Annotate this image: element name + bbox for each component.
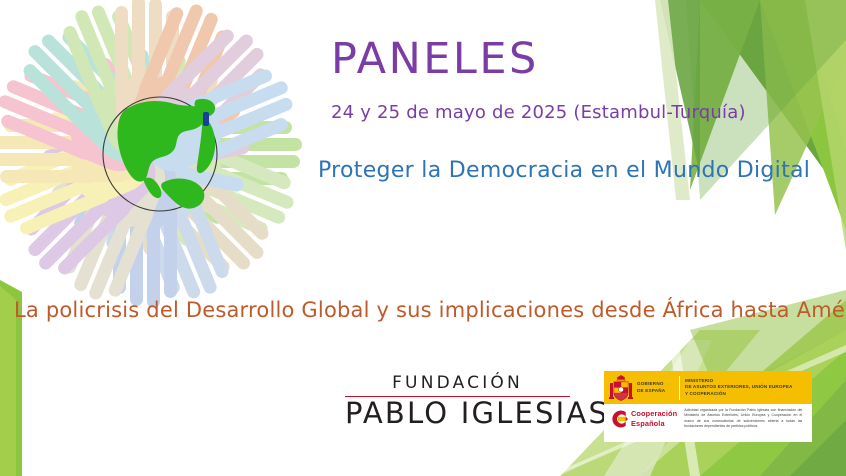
ministry-line-3: Y COOPERACIÓN: [685, 391, 793, 398]
event-date-location: 24 y 25 de mayo de 2025 (Estambul-Turquí…: [331, 104, 746, 122]
fundacion-pablo-iglesias-logo: FUNDACIÓN PABLO IGLESIAS: [345, 374, 570, 430]
page-title: PANELES: [331, 38, 539, 81]
government-logo-block: GOBIERNO DE ESPAÑA MINISTERIO DE ASUNTOS…: [604, 371, 812, 442]
cooperacion-espanola-band: Cooperación Española Actividad organizad…: [604, 404, 812, 442]
ministry-label: MINISTERIO DE ASUNTOS EXTERIORES, UNIÓN …: [685, 378, 793, 398]
gobierno-de-espana-label: GOBIERNO DE ESPAÑA: [637, 381, 677, 393]
ministry-line-2: DE ASUNTOS EXTERIORES, UNIÓN EUROPEA: [685, 384, 793, 391]
spain-coat-of-arms-icon: [608, 374, 634, 402]
cooperacion-espanola-label: Cooperación Española: [631, 409, 677, 428]
event-subtitle: Proteger la Democracia en el Mundo Digit…: [318, 160, 810, 182]
cooperacion-line-2: Española: [631, 419, 677, 429]
panel-theme-banner: La policrisis del Desarrollo Global y su…: [14, 300, 846, 321]
cooperacion-line-1: Cooperación: [631, 409, 677, 419]
gobierno-de-espana-band: GOBIERNO DE ESPAÑA MINISTERIO DE ASUNTOS…: [604, 371, 812, 404]
foundation-top-label: FUNDACIÓN: [345, 374, 570, 393]
presentation-slide: PANELES 24 y 25 de mayo de 2025 (Estambu…: [0, 0, 846, 476]
cooperacion-espanola-mark: Cooperación Española: [608, 408, 677, 430]
foundation-bottom-label: PABLO IGLESIAS: [345, 398, 570, 430]
logo-vertical-divider: [679, 376, 680, 400]
cooperation-c-icon: [608, 408, 628, 430]
funding-disclaimer-text: Actividad organizada por la Fundación Pa…: [684, 408, 802, 429]
gobierno-line-2: DE ESPAÑA: [637, 388, 677, 394]
